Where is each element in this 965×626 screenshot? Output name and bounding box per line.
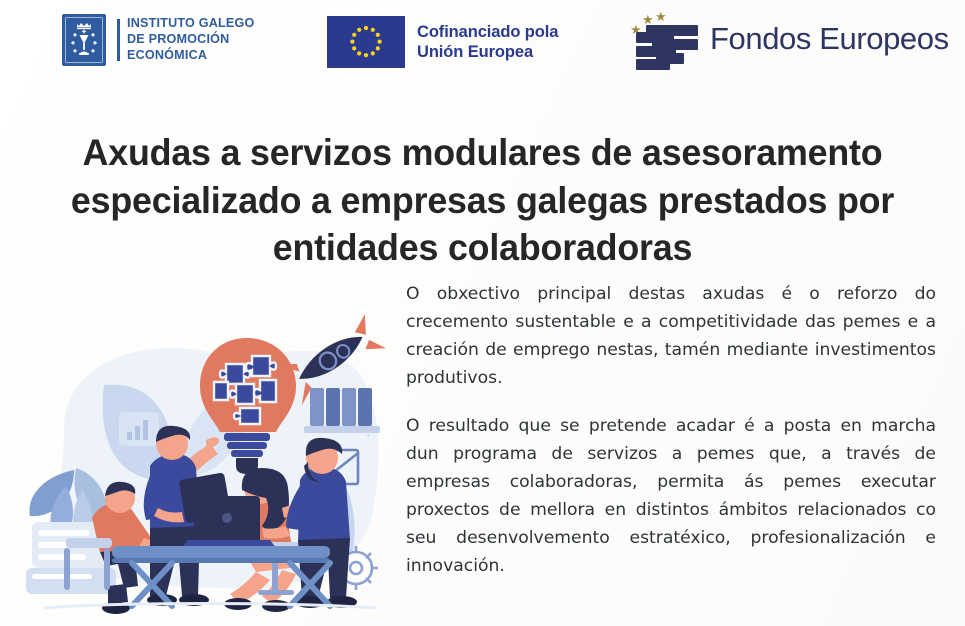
galicia-coat-of-arms-icon <box>62 14 106 66</box>
igape-logo-divider <box>117 19 120 61</box>
eu-logo-label: Cofinanciado pola Unión Europea <box>417 22 558 62</box>
fondos-europeos-label: Fondos Europeos <box>710 21 949 57</box>
eu-flag-icon <box>327 16 405 68</box>
binder-shelf <box>304 388 380 433</box>
page-title-line-1: Axudas a servizos modulares de asesorame… <box>83 131 883 173</box>
funding-logo-bar: INSTITUTO GALEGO DE PROMOCIÓN ECONÓMICA <box>0 0 965 88</box>
european-union-logo: Cofinanciado pola Unión Europea <box>327 16 558 68</box>
page-title-line-2: especializado a empresas galegas prestad… <box>71 179 894 221</box>
floor-line <box>44 604 376 609</box>
body-text-column: O obxectivo principal destas axudas é o … <box>406 281 936 581</box>
igape-logo-label: INSTITUTO GALEGO DE PROMOCIÓN ECONÓMICA <box>127 16 255 64</box>
team-collaboration-illustration <box>4 290 396 620</box>
page-title: Axudas a servizos modulares de asesorame… <box>48 129 916 272</box>
document-page: INSTITUTO GALEGO DE PROMOCIÓN ECONÓMICA <box>0 0 965 626</box>
chart-icon <box>119 412 159 446</box>
fondos-europeos-mark-icon: ★ ★ ★ <box>622 8 700 70</box>
igape-logo: INSTITUTO GALEGO DE PROMOCIÓN ECONÓMICA <box>62 14 255 66</box>
fondos-europeos-logo: ★ ★ ★ Fondos Europeos <box>622 8 949 70</box>
page-title-line-3: entidades colaboradoras <box>273 226 693 268</box>
body-paragraph-2: O resultado que se pretende acadar é a p… <box>406 413 936 580</box>
body-paragraph-1: O obxectivo principal destas axudas é o … <box>406 281 936 392</box>
